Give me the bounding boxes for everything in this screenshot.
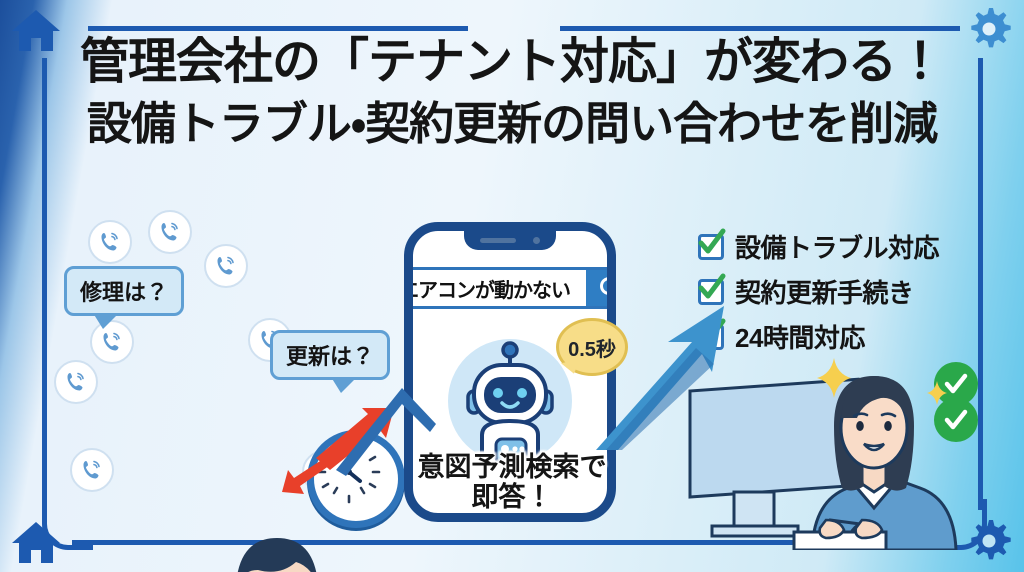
checklist-item[interactable]: 設備トラブル対応 <box>698 228 939 265</box>
phone-caption-line-1: 意図予測検索で <box>380 452 644 482</box>
checklist-item-label: 設備トラブル対応 <box>735 228 939 265</box>
checklist-item-label: 契約更新手続き <box>735 273 914 310</box>
frame-line-top-left <box>88 26 468 31</box>
response-time-badge: 0.5秒 <box>556 318 628 376</box>
frame-line-top-right <box>560 26 960 31</box>
chatbot-robot-icon <box>448 339 572 463</box>
sparkle-icon <box>817 358 851 398</box>
search-input[interactable]: エアコンが動かない <box>404 267 616 309</box>
headline-line-1-text: 管理会社の「テナント対応」が <box>80 35 752 89</box>
search-query-text[interactable]: エアコンが動かない <box>404 274 586 303</box>
headline-line-2: 設備トラブル・契約更新の問い合わせを削減 <box>0 101 1024 146</box>
speaker-slot <box>480 238 516 243</box>
checkbox-checked-icon[interactable] <box>698 234 724 260</box>
ringing-phone-icon <box>70 448 114 492</box>
speech-bubble-repair: 修理は？ <box>64 266 184 316</box>
speech-bubble-repair-text: 修理は？ <box>80 280 168 305</box>
sparkle-icon <box>927 381 947 405</box>
headline-highlight: 変わる！ <box>752 38 944 87</box>
front-camera <box>533 237 540 244</box>
blue-up-arrow-icon <box>596 300 736 450</box>
ringing-phone-icon <box>204 244 248 288</box>
poster-canvas: 管理会社の「テナント対応」が変わる！ 設備トラブル・契約更新の問い合わせを削減 <box>0 0 1024 572</box>
headline-line-1: 管理会社の「テナント対応」が変わる！ <box>0 38 1024 87</box>
checklist-item-label: 24時間対応 <box>735 318 865 355</box>
page-title: 管理会社の「テナント対応」が変わる！ 設備トラブル・契約更新の問い合わせを削減 <box>0 38 1024 146</box>
ringing-phone-icon <box>88 220 132 264</box>
phone-caption: 意図予測検索で 即答！ <box>380 452 644 512</box>
phone-caption-line-2: 即答！ <box>380 482 644 512</box>
phone-notch <box>464 230 556 250</box>
ringing-phone-icon <box>148 210 192 254</box>
ringing-phone-icon <box>54 360 98 404</box>
